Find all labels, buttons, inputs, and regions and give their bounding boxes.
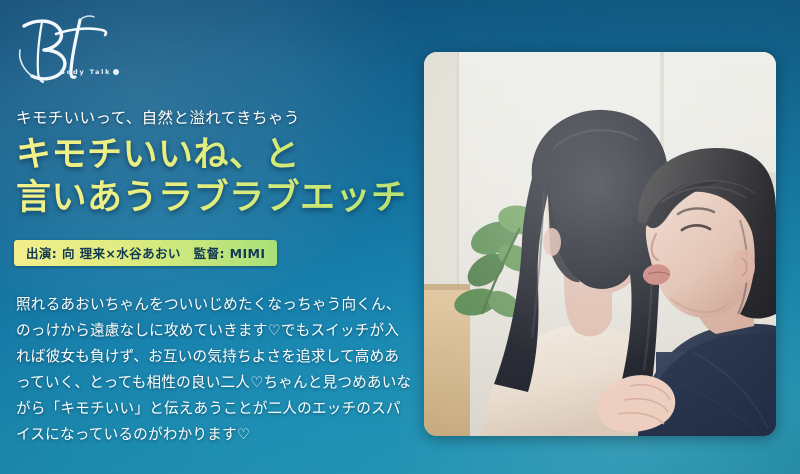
- cast-credits-badge: 出演: 向 理来×水谷あおい 監督: MIMI: [14, 240, 277, 266]
- hero-title-line-1: キモチいいね、と: [16, 134, 436, 177]
- photo-artwork: [424, 52, 776, 436]
- hero-subtitle: キモチいいって、自然と溢れてきちゃう: [16, 106, 300, 128]
- registered-mark-icon: [113, 69, 119, 75]
- hero-title: キモチいいね、と 言いあうラブラブエッチ: [16, 134, 436, 221]
- bt-monogram-icon: [12, 8, 132, 88]
- couple-kissing-photo[interactable]: [424, 52, 776, 436]
- hero-title-line-2: 言いあうラブラブエッチ: [16, 177, 436, 220]
- brand-wordmark-text: Body Talk: [60, 68, 111, 76]
- brand-wordmark: Body Talk: [60, 68, 119, 76]
- brand-logo[interactable]: Body Talk: [12, 8, 132, 88]
- hero-description: 照れるあおいちゃんをついいじめたくなっちゃう向くん、のっけから遠慮なしに攻めてい…: [16, 292, 412, 448]
- promo-banner: Body Talk キモチいいって、自然と溢れてきちゃう キモチいいね、と 言い…: [0, 0, 800, 474]
